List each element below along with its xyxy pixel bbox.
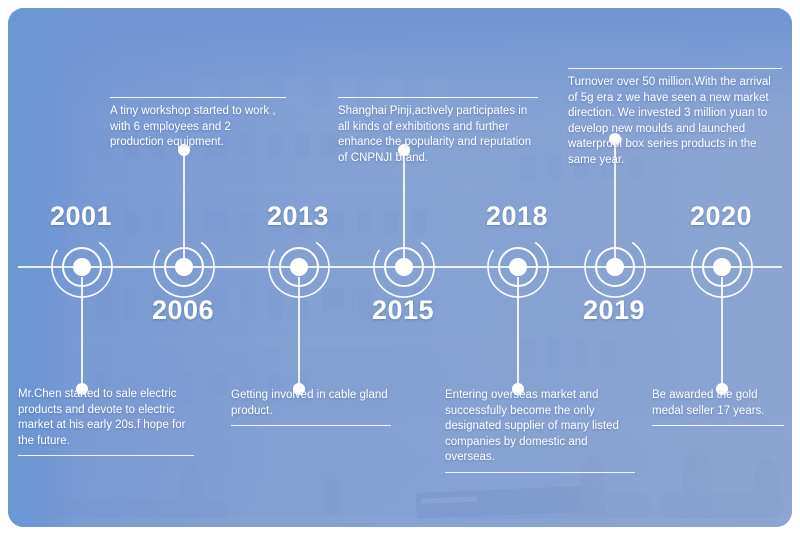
callout-2006: A tiny workshop started to work , with 6…	[110, 97, 286, 151]
connector-line	[517, 277, 519, 389]
timeline-infographic: 2001 Mr.Chen started to sale electric pr…	[0, 0, 800, 535]
callout-text: Shanghai Pinji,actively participates in …	[338, 104, 538, 166]
callout-text: Entering overseas market and successfull…	[445, 388, 635, 466]
callout-text: Mr.Chen started to sale electric product…	[18, 387, 194, 449]
year-label: 2019	[583, 295, 645, 326]
callout-rule	[231, 425, 391, 426]
callout-rule	[568, 68, 782, 69]
connector-line	[81, 277, 83, 389]
callout-rule	[445, 472, 635, 473]
connector-line	[183, 150, 185, 267]
year-label: 2015	[372, 295, 434, 326]
callout-2020: Be awarded the gold medal seller 17 year…	[652, 388, 784, 426]
callout-2013: Getting involved in cable gland product.	[231, 388, 391, 426]
callout-2001: Mr.Chen started to sale electric product…	[18, 387, 194, 456]
year-label: 2001	[50, 201, 112, 232]
callout-rule	[652, 425, 784, 426]
callout-text: Turnover over 50 million.With the arriva…	[568, 75, 782, 168]
callout-text: Getting involved in cable gland product.	[231, 388, 391, 419]
year-label: 2018	[486, 201, 548, 232]
callout-2019: Turnover over 50 million.With the arriva…	[568, 68, 782, 168]
callout-text: A tiny workshop started to work , with 6…	[110, 104, 286, 151]
callout-rule	[110, 97, 286, 98]
year-label: 2020	[690, 201, 752, 232]
callout-rule	[18, 455, 194, 456]
connector-line	[721, 277, 723, 389]
callout-rule	[338, 97, 538, 98]
connector-line	[403, 150, 405, 267]
connector-line	[298, 277, 300, 389]
callout-2015: Shanghai Pinji,actively participates in …	[338, 97, 538, 166]
callout-2018: Entering overseas market and successfull…	[445, 388, 635, 473]
callout-text: Be awarded the gold medal seller 17 year…	[652, 388, 784, 419]
year-label: 2013	[267, 201, 329, 232]
year-label: 2006	[152, 295, 214, 326]
